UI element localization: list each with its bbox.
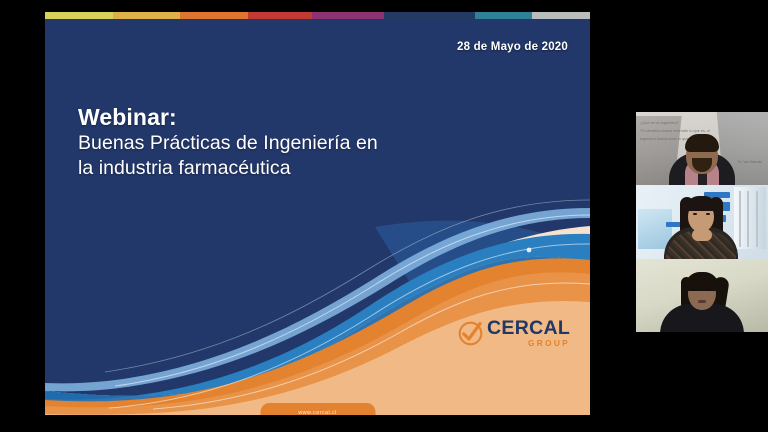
check-circle-icon [457,320,484,347]
shared-screen-slide[interactable]: 28 de Mayo de 2020 Webinar: Buenas Práct… [45,12,590,415]
logo-wordmark: CERCAL GROUP [487,319,570,348]
slide-title-line1: Buenas Prácticas de Ingeniería en [78,131,378,156]
slide-title-kicker: Webinar: [78,104,378,131]
ribbon-segment-amber [113,12,181,19]
participant-3-hair-top [685,272,719,291]
ribbon-segment-navy [384,12,475,19]
slide-date: 28 de Mayo de 2020 [457,41,568,53]
participant-2-eye-left [693,213,697,215]
bg-quote-line2: "El científico busca entender lo que es,… [640,129,710,133]
bg-quote-attribution: Th. Von Kármán [737,160,762,164]
ribbon-segment-teal [475,12,533,19]
participant-1-eye-left [693,150,697,152]
participant-2-hands [692,229,712,241]
video-call-stage: 28 de Mayo de 2020 Webinar: Buenas Práct… [0,0,768,432]
participant-tile-1[interactable]: ¿Qué es un Ingeniero? "El científico bus… [636,112,768,185]
ribbon-segment-yellow [45,12,113,19]
footer-url-pill[interactable]: www.cercal.cl [260,403,375,415]
ribbon-segment-orange [180,12,248,19]
participant-3-mouth [698,300,706,303]
participant-1-eye-right [706,150,710,152]
slide-title-line2: la industria farmacéutica [78,156,378,181]
participant-2-hair-top [686,196,717,211]
participant-tile-2[interactable] [636,185,768,258]
ribbon-segment-red [248,12,312,19]
participant-thumbnail-strip: ¿Qué es un Ingeniero? "El científico bus… [636,112,768,332]
participant-3-eye-right [706,289,710,291]
bg-quote-line1: ¿Qué es un Ingeniero? [640,121,679,125]
cercal-logo: CERCAL GROUP [457,319,570,348]
slide-title-block: Webinar: Buenas Prácticas de Ingeniería … [78,104,378,180]
bg-glass-shelf [734,187,766,249]
ribbon-segment-magenta [312,12,383,19]
logo-subtitle: GROUP [528,340,570,348]
footer-url-text: www.cercal.cl [298,410,336,415]
logo-name: CERCAL [487,319,570,339]
participant-1-video: ¿Qué es un Ingeniero? "El científico bus… [636,112,768,185]
ribbon-segment-gray [532,12,590,19]
slide-wave-artwork [45,12,590,415]
participant-1-hair [685,134,719,152]
participant-3-eye-left [692,289,696,291]
participant-3-video [636,259,768,332]
participant-tile-3[interactable] [636,259,768,332]
participant-2-eye-right [706,213,710,215]
slide-color-ribbon [45,12,590,19]
participant-2-video [636,185,768,258]
